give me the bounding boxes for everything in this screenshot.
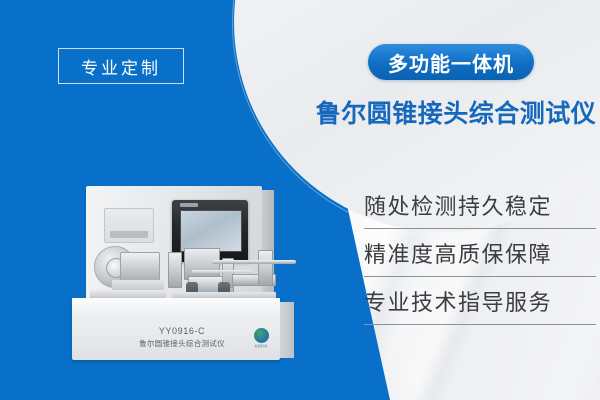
page-title: 鲁尔圆锥接头综合测试仪 [312,94,600,130]
product-machine-image: YY0916-C 鲁尔圆锥接头综合测试仪 检测科技 [72,186,304,374]
machine-model-name: 鲁尔圆锥接头综合测试仪 [112,338,252,349]
machine-base-top [72,298,280,314]
machine-fixture-block [258,250,273,286]
machine-bracket-panel [104,208,154,243]
touchscreen-brand-icon [180,203,198,207]
feature-list: 随处检测持久稳定 精准度高质保保障 专业技术指导服务 [364,192,596,336]
machine-model-code: YY0916-C [118,326,246,336]
custom-made-badge: 专业定制 [58,48,184,84]
machine-fixture-block [168,252,182,288]
feature-item: 精准度高质保保障 [364,240,596,277]
machine-test-rod [212,260,296,264]
multifunction-pill-label: 多功能一体机 [388,48,514,77]
multifunction-pill-badge: 多功能一体机 [368,44,534,80]
feature-item: 专业技术指导服务 [364,288,596,325]
brand-logo: 检测科技 [250,328,272,350]
machine-motor-block [120,252,160,282]
machine-mechanism [72,244,304,306]
feature-item-label: 专业技术指导服务 [364,288,596,318]
feature-item-label: 精准度高质保保障 [364,240,596,270]
machine-guide-rail [192,270,252,273]
feature-item: 随处检测持久稳定 [364,192,596,229]
brand-logo-icon [254,328,269,343]
product-banner: 专业定制 多功能一体机 鲁尔圆锥接头综合测试仪 随处检测持久稳定 精准度高质保保… [0,0,600,400]
machine-base-side [280,302,294,358]
feature-item-label: 随处检测持久稳定 [364,192,596,222]
custom-made-badge-label: 专业定制 [81,54,161,79]
brand-logo-text: 检测科技 [250,344,272,348]
